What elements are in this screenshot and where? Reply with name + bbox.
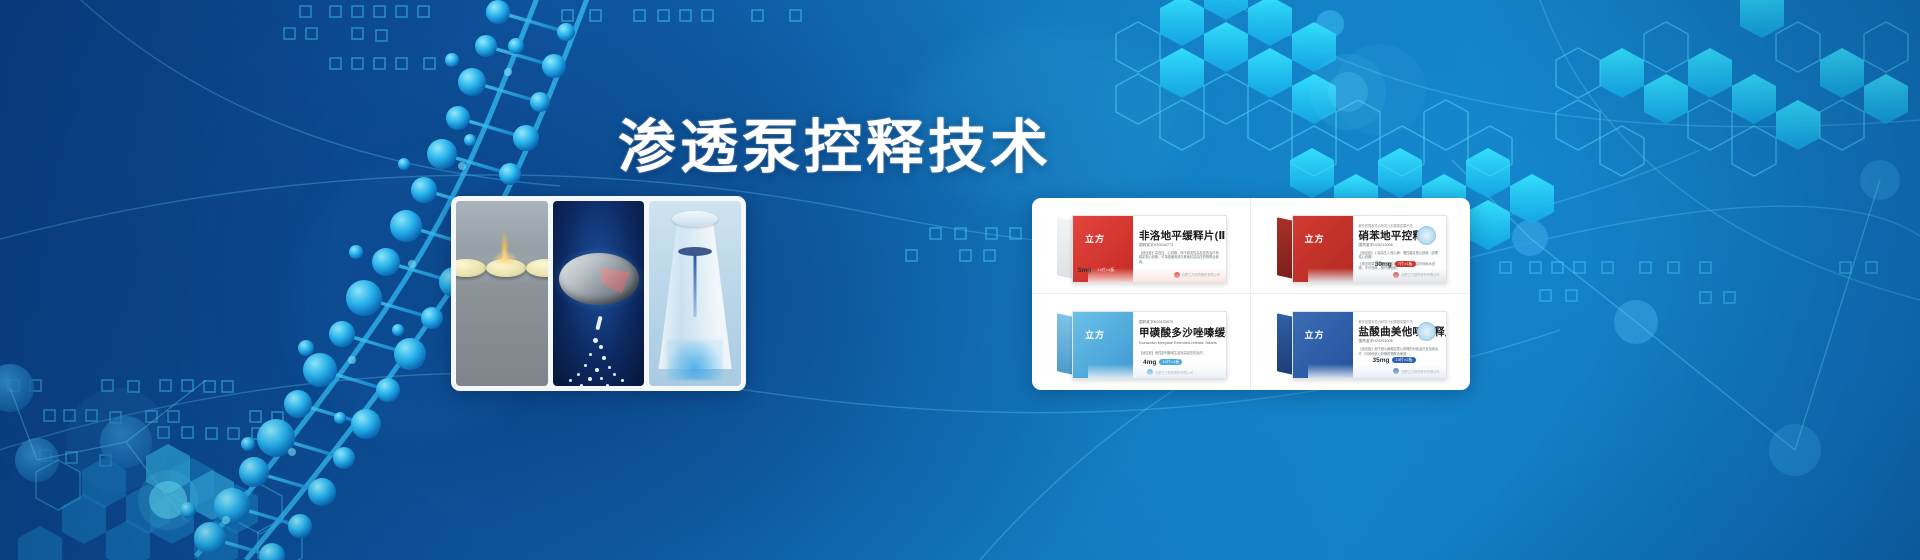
product-cell-3[interactable]: 立方 国药准字H20133075 甲磺酸多沙唑嗪缓释片 Doxazosin Me…	[1032, 294, 1251, 390]
box-side-panel	[1277, 217, 1293, 278]
product-count: 7片×1板	[1395, 261, 1416, 267]
photo-osmotic-tablet-cutaway	[553, 201, 645, 386]
box-bottom-shade	[1088, 364, 1227, 378]
brand-logo: 立方	[1085, 328, 1105, 341]
dye-pool	[667, 340, 723, 380]
box-side-panel	[1057, 217, 1073, 278]
product-box-doxazosin: 立方 国药准字H20133075 甲磺酸多沙唑嗪缓释片 Doxazosin Me…	[1057, 311, 1225, 373]
box-front-face: 立方 著作权国家重点研发计划课题成果产品 盐酸曲美他嗪缓释片 国药准字H2020…	[1292, 311, 1447, 379]
product-description: 【适应症】用于冠心病稳定型心绞痛的对症治疗及加用治疗（与其他抗心绞痛药物联合使用…	[1359, 347, 1440, 357]
product-description: 【适应症】1.高血压 2.冠心病：慢性稳定型心绞痛（劳累性心绞痛）	[1359, 251, 1440, 261]
box-front-face: 立方 国药准字H20133075 甲磺酸多沙唑嗪缓释片 Doxazosin Me…	[1072, 311, 1227, 379]
product-box-trimetazidine: 立方 著作权国家重点研发计划课题成果产品 盐酸曲美他嗪缓释片 国药准字H2020…	[1277, 311, 1445, 373]
photo-strip	[451, 196, 746, 391]
brand-logo: 立方	[1305, 232, 1325, 245]
product-approval: 国药准字H20133075	[1139, 320, 1221, 325]
product-name: 非洛地平缓释片(Ⅱ)	[1139, 231, 1221, 243]
box-front-face: 立方 非洛地平缓释片(Ⅱ) 国药准字H20044773 【适应症】高血压、心绞痛…	[1072, 215, 1227, 283]
tablet-right	[526, 259, 548, 277]
box-side-panel	[1277, 313, 1293, 374]
quality-seal-icon	[1417, 322, 1436, 341]
background-vignette	[0, 0, 1920, 560]
flask-rim	[672, 211, 718, 227]
product-name: 甲磺酸多沙唑嗪缓释片	[1139, 328, 1221, 340]
box-bottom-shade	[1308, 364, 1447, 378]
page-title: 渗透泵控释技术	[618, 117, 1052, 178]
product-dose: 30mg	[1375, 261, 1392, 268]
product-box-nifedipine: 立方 著作权国家重点研发计划课题成果产品 硝苯地平控释片 国药准字H202130…	[1277, 215, 1445, 277]
product-cell-2[interactable]: 立方 著作权国家重点研发计划课题成果产品 硝苯地平控释片 国药准字H202130…	[1251, 198, 1470, 294]
product-cell-1[interactable]: 立方 非洛地平缓释片(Ⅱ) 国药准字H20044773 【适应症】高血压、心绞痛…	[1032, 198, 1251, 294]
photo-dissolution-flask	[649, 201, 741, 386]
release-orifice	[595, 315, 602, 330]
product-panel: 立方 非洛地平缓释片(Ⅱ) 国药准字H20044773 【适应症】高血压、心绞痛…	[1032, 198, 1470, 390]
quality-seal-icon	[1417, 226, 1436, 245]
photo-laser-drilling-tablets	[456, 201, 548, 386]
banner-hero: 渗透泵控释技术	[0, 0, 1920, 560]
product-count: 10片×2板	[1392, 357, 1415, 363]
box-bottom-shade	[1308, 268, 1447, 282]
box-bottom-shade	[1088, 268, 1227, 282]
tablet-left	[456, 259, 486, 277]
brand-logo: 立方	[1305, 328, 1325, 341]
product-dose: 35mg	[1373, 357, 1390, 364]
product-cell-4[interactable]: 立方 著作权国家重点研发计划课题成果产品 盐酸曲美他嗪缓释片 国药准字H2020…	[1251, 294, 1470, 390]
product-approval: 国药准字H20044773	[1139, 243, 1221, 248]
product-description: 【适应症】良性前列腺增生症及高血压的治疗。	[1139, 351, 1220, 356]
product-name-en: Doxazosin Mesylate Extended-release Tabl…	[1139, 341, 1221, 345]
box-side-panel	[1057, 313, 1073, 374]
product-description: 【适应症】高血压、心绞痛。用于原发性高血压的治疗和稳定型心绞痛，可单独使用或与其…	[1139, 251, 1220, 265]
dye-stream	[694, 255, 697, 317]
product-box-felodipine: 立方 非洛地平缓释片(Ⅱ) 国药准字H20044773 【适应症】高血压、心绞痛…	[1057, 215, 1225, 277]
brand-logo: 立方	[1085, 232, 1105, 245]
laser-glow	[492, 251, 518, 267]
box-front-face: 立方 著作权国家重点研发计划课题成果产品 硝苯地平控释片 国药准字H202130…	[1292, 215, 1447, 283]
